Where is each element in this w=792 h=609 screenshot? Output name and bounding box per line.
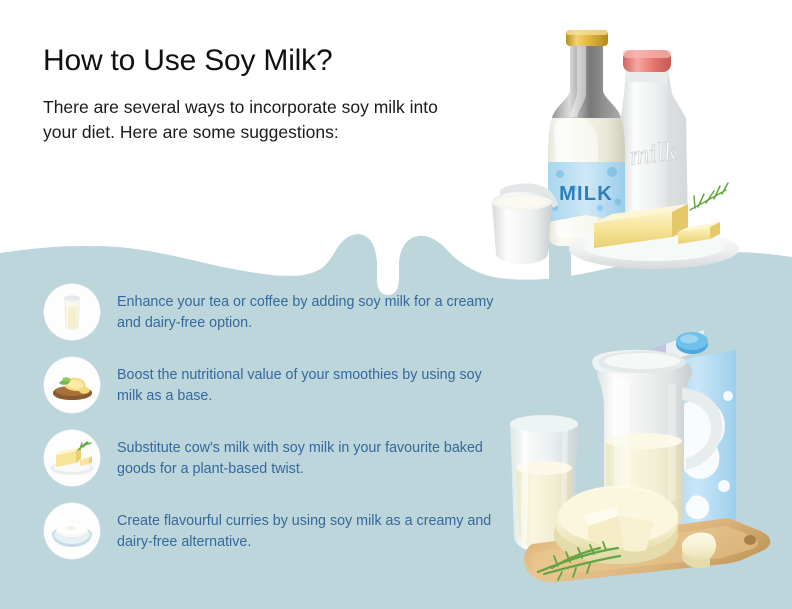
glass-of-milk-icon	[44, 284, 100, 340]
svg-text:MILK: MILK	[559, 183, 613, 205]
glass-milk-bottle: MILK	[548, 30, 625, 246]
list-item: Create flavourful curries by using soy m…	[44, 503, 504, 561]
header-block: How to Use Soy Milk? There are several w…	[43, 44, 473, 145]
butter-on-plate-icon	[44, 430, 100, 486]
page-title: How to Use Soy Milk?	[43, 44, 473, 77]
pitcher-carton-cheese-illustration	[496, 300, 786, 592]
list-item-text: Boost the nutritional value of your smoo…	[117, 357, 503, 407]
bowl-of-cream-icon	[44, 503, 100, 559]
infographic-page: How to Use Soy Milk? There are several w…	[0, 0, 792, 609]
yogurt-cup	[492, 183, 558, 264]
list-item-text: Create flavourful curries by using soy m…	[117, 503, 503, 553]
suggestions-list: Enhance your tea or coffee by adding soy…	[44, 284, 504, 561]
svg-text:milk: milk	[628, 135, 679, 171]
list-item-text: Enhance your tea or coffee by adding soy…	[117, 284, 503, 334]
list-item: Boost the nutritional value of your smoo…	[44, 357, 504, 415]
bottle-label: MILK	[548, 162, 625, 222]
fruit-on-board-icon	[44, 357, 100, 413]
milk-bottle-jug-butter-illustration: milk MILK	[482, 22, 782, 272]
list-item: Substitute cow's milk with soy milk in y…	[44, 430, 504, 488]
list-item-text: Substitute cow's milk with soy milk in y…	[117, 430, 503, 480]
page-intro: There are several ways to incorporate so…	[43, 95, 473, 145]
dill-sprig	[690, 183, 728, 210]
list-item: Enhance your tea or coffee by adding soy…	[44, 284, 504, 342]
